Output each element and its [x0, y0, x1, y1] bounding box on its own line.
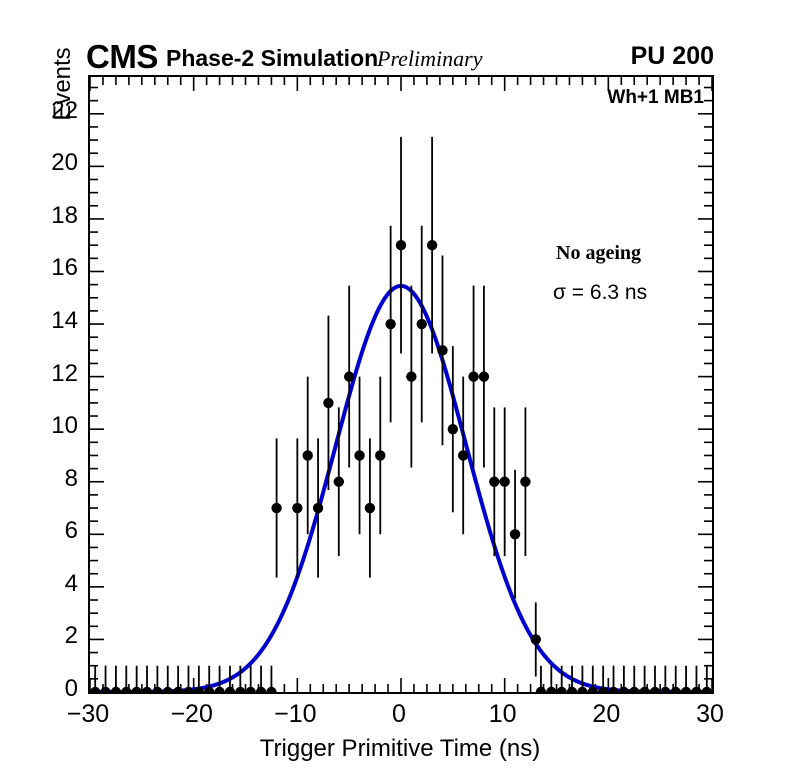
y-tick-label: 18: [0, 204, 78, 228]
data-point: [468, 371, 478, 381]
y-tick-label: 0: [0, 677, 78, 701]
x-axis-title: Trigger Primitive Time (ns): [260, 735, 540, 763]
data-point: [406, 371, 416, 381]
data-point: [546, 687, 556, 692]
data-point: [556, 687, 566, 692]
data-point: [577, 687, 587, 692]
data-point: [365, 503, 375, 513]
y-tick-label: 22: [0, 99, 78, 123]
data-point: [142, 687, 152, 692]
data-point: [448, 424, 458, 434]
chart-header: CMS Phase-2 Simulation Preliminary PU 20…: [0, 0, 796, 75]
data-point: [292, 503, 302, 513]
data-point: [90, 687, 100, 692]
x-tick-label: 0: [359, 702, 439, 727]
y-tick-label: 10: [0, 414, 78, 438]
y-tick-label: 12: [0, 362, 78, 386]
data-point: [266, 687, 276, 692]
data-point: [214, 687, 224, 692]
preliminary-label: Preliminary: [377, 48, 483, 70]
y-tick-label: 20: [0, 151, 78, 175]
plot-canvas: [90, 77, 712, 692]
data-point: [245, 687, 255, 692]
data-point: [111, 687, 121, 692]
data-point: [225, 687, 235, 692]
data-point: [567, 687, 577, 692]
data-point: [385, 319, 395, 329]
y-axis-title: Events: [49, 19, 77, 149]
data-point: [417, 319, 427, 329]
y-tick-label: 14: [0, 309, 78, 333]
data-point: [163, 687, 173, 692]
x-tick-label: 20: [566, 702, 646, 727]
data-point: [313, 503, 323, 513]
chamber-label: Wh+1 MB1: [607, 87, 704, 109]
data-point: [100, 687, 110, 692]
data-point: [650, 687, 660, 692]
data-point: [375, 450, 385, 460]
data-point: [303, 450, 313, 460]
data-point: [479, 371, 489, 381]
data-point: [121, 687, 131, 692]
data-point: [681, 687, 691, 692]
data-point: [489, 477, 499, 487]
ageing-annotation: No ageing: [556, 242, 641, 265]
y-tick-label: 16: [0, 256, 78, 280]
data-point: [499, 477, 509, 487]
data-point: [271, 503, 281, 513]
pileup-label: PU 200: [631, 44, 714, 69]
data-point: [660, 687, 670, 692]
y-tick-label: 6: [0, 519, 78, 543]
x-tick-label: −10: [255, 702, 335, 727]
data-point: [437, 345, 447, 355]
data-point: [354, 450, 364, 460]
chart-page: CMS Phase-2 Simulation Preliminary PU 20…: [0, 0, 796, 772]
data-point: [691, 687, 701, 692]
data-series: [90, 137, 712, 692]
data-point: [256, 687, 266, 692]
data-point: [235, 687, 245, 692]
data-point: [334, 477, 344, 487]
sigma-annotation: σ = 6.3 ns: [553, 281, 647, 305]
data-point: [629, 687, 639, 692]
data-point: [131, 687, 141, 692]
data-point: [536, 687, 546, 692]
data-point: [323, 398, 333, 408]
data-point: [458, 450, 468, 460]
y-tick-label: 4: [0, 572, 78, 596]
data-point: [510, 529, 520, 539]
x-tick-label: 10: [463, 702, 543, 727]
data-point: [173, 687, 183, 692]
x-tick-label: −20: [152, 702, 232, 727]
x-tick-label: −30: [48, 702, 128, 727]
data-point: [344, 371, 354, 381]
data-point: [152, 687, 162, 692]
data-point: [639, 687, 649, 692]
x-tick-label: 30: [670, 702, 750, 727]
data-point: [671, 687, 681, 692]
plot-frame: Wh+1 MB1 No ageing σ = 6.3 ns: [88, 75, 714, 694]
data-point: [702, 687, 712, 692]
simulation-label: Phase-2 Simulation: [166, 47, 378, 70]
data-point: [396, 240, 406, 250]
data-point: [427, 240, 437, 250]
data-point: [619, 687, 629, 692]
y-tick-label: 8: [0, 467, 78, 491]
y-tick-label: 2: [0, 624, 78, 648]
data-point: [531, 634, 541, 644]
data-point: [520, 477, 530, 487]
cms-logo-text: CMS: [86, 40, 158, 73]
